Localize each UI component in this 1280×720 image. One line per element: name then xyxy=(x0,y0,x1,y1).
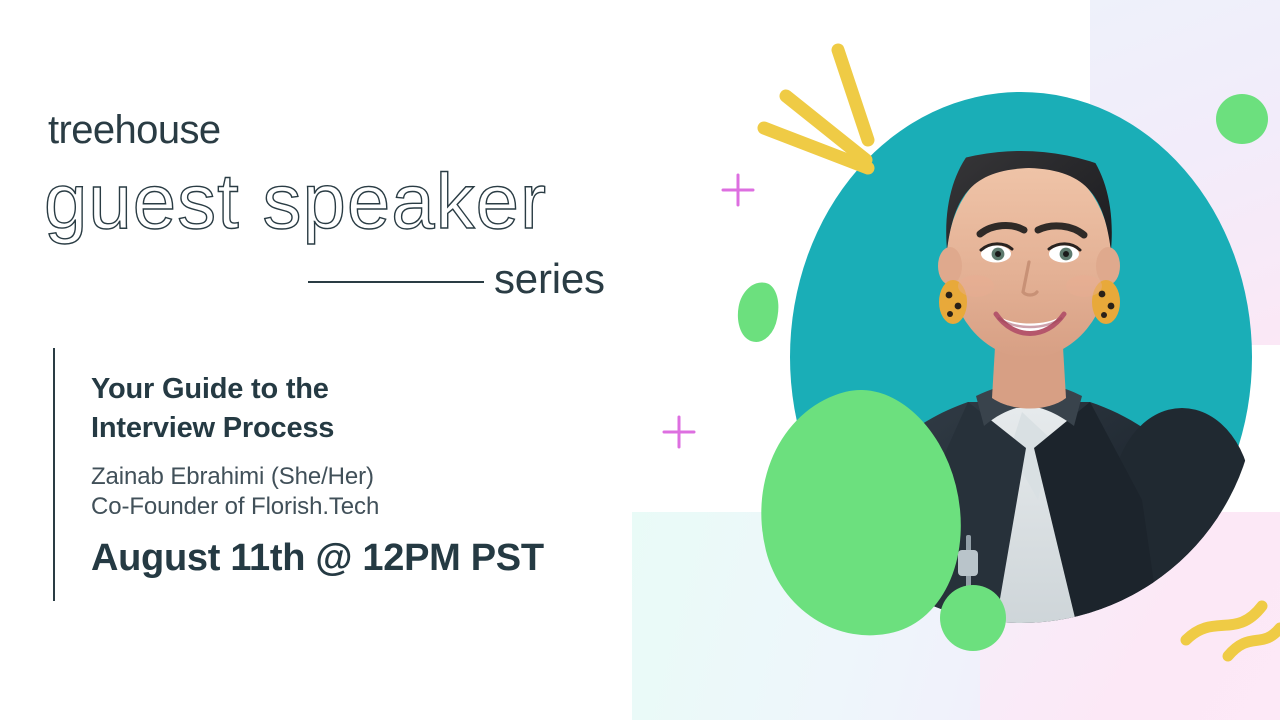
left-vertical-rule xyxy=(53,348,55,601)
magenta-plus-middle xyxy=(664,417,694,447)
slide-canvas: treehouse guest speaker series Your Guid… xyxy=(0,0,1280,720)
speaker-role: Co-Founder of Florish.Tech xyxy=(91,491,379,522)
session-title: Your Guide to the Interview Process xyxy=(91,370,334,447)
session-datetime: August 11th @ 12PM PST xyxy=(91,537,544,580)
session-title-line-2: Interview Process xyxy=(91,409,334,448)
series-divider-rule xyxy=(308,281,484,283)
series-word: series xyxy=(494,255,605,303)
magenta-plus-top xyxy=(723,175,753,205)
green-dot-bottom xyxy=(940,585,1006,651)
hair-bun xyxy=(991,70,1075,138)
headline-outline-text: guest speaker xyxy=(44,156,547,247)
speaker-name: Zainab Ebrahimi (She/Her) xyxy=(91,461,374,492)
session-title-line-1: Your Guide to the xyxy=(91,370,334,409)
green-blob-small xyxy=(733,279,783,345)
brand-wordmark: treehouse xyxy=(48,108,221,153)
